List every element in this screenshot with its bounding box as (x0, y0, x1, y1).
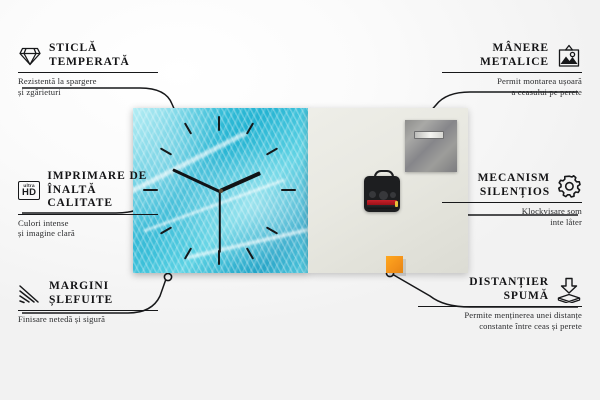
arrow-onto-pad-icon (556, 277, 582, 303)
callout-subtitle: Permite menținerea unei distanțe (418, 310, 582, 321)
battery-cap (395, 201, 398, 207)
anchor-dot-polished-edges (164, 273, 171, 280)
ultra-hd-badge-icon: ultra HD (18, 181, 40, 200)
hanger-loop (374, 170, 394, 181)
callout-silent-mechanism: MECANISM SILENȚIOS Klockvisare som inte … (442, 172, 582, 227)
callout-high-quality-print: ultra HD IMPRIMARE DE ÎNALTĂ CALITATE Cu… (18, 170, 158, 239)
second-hand (219, 191, 221, 253)
callout-rule (418, 306, 582, 307)
callout-title: MÂNERE (480, 42, 549, 56)
diamond-icon (18, 45, 42, 67)
foam-spacer (386, 256, 403, 273)
quartz-mechanism (364, 176, 400, 212)
callout-rule (18, 310, 158, 311)
callout-rule (18, 214, 158, 215)
callout-title: TEMPERATĂ (49, 56, 130, 70)
callout-title: SILENȚIOS (478, 186, 550, 200)
metal-hanger-plate (405, 120, 457, 172)
callout-subtitle: Culori intense (18, 218, 158, 229)
callout-title: DISTANȚIER (469, 276, 549, 290)
callout-subtitle: inte låter (442, 217, 582, 228)
callout-title: STICLĂ (49, 42, 130, 56)
callout-title: METALICE (480, 56, 549, 70)
callout-subtitle: Permit montarea ușoară (442, 76, 582, 87)
gear-icon (557, 174, 582, 198)
callout-subtitle: Rezistentă la spargere (18, 76, 158, 87)
callout-title: MECANISM (478, 172, 550, 186)
infographic-canvas: STICLĂ TEMPERATĂ Rezistentă la spargere … (0, 0, 600, 400)
callout-subtitle: Finisare netedă și sigură (18, 314, 158, 325)
callout-title: SPUMĂ (469, 290, 549, 304)
framed-picture-icon (556, 44, 582, 68)
callout-metal-handles: MÂNERE METALICE Permit montarea ușoară a… (442, 42, 582, 97)
callout-subtitle: constante între ceas și perete (418, 321, 582, 332)
callout-subtitle: Klockvisare som (442, 206, 582, 217)
callout-rule (18, 72, 158, 73)
callout-title: MARGINI (49, 280, 113, 294)
callout-subtitle: a ceasului pe perete (442, 87, 582, 98)
callout-rule (442, 72, 582, 73)
hanger-slot (414, 131, 444, 139)
callout-title: IMPRIMARE DE (47, 170, 158, 184)
clock-hub (219, 189, 223, 193)
callout-rule (442, 202, 582, 203)
callout-subtitle: și imagine clară (18, 228, 158, 239)
clock-face (133, 108, 308, 273)
callout-title: ȘLEFUITE (49, 294, 113, 308)
callout-tempered-glass: STICLĂ TEMPERATĂ Rezistentă la spargere … (18, 42, 158, 97)
callout-foam-spacer: DISTANȚIER SPUMĂ Permite menținerea unei… (418, 276, 582, 331)
hd-badge-main-text: HD (22, 188, 36, 198)
callout-title: ÎNALTĂ CALITATE (47, 184, 158, 211)
battery (367, 200, 397, 209)
callout-polished-edges: MARGINI ȘLEFUITE Finisare netedă și sigu… (18, 280, 158, 325)
callout-subtitle: și zgârieturi (18, 87, 158, 98)
diagonal-hatch-icon (18, 283, 42, 305)
